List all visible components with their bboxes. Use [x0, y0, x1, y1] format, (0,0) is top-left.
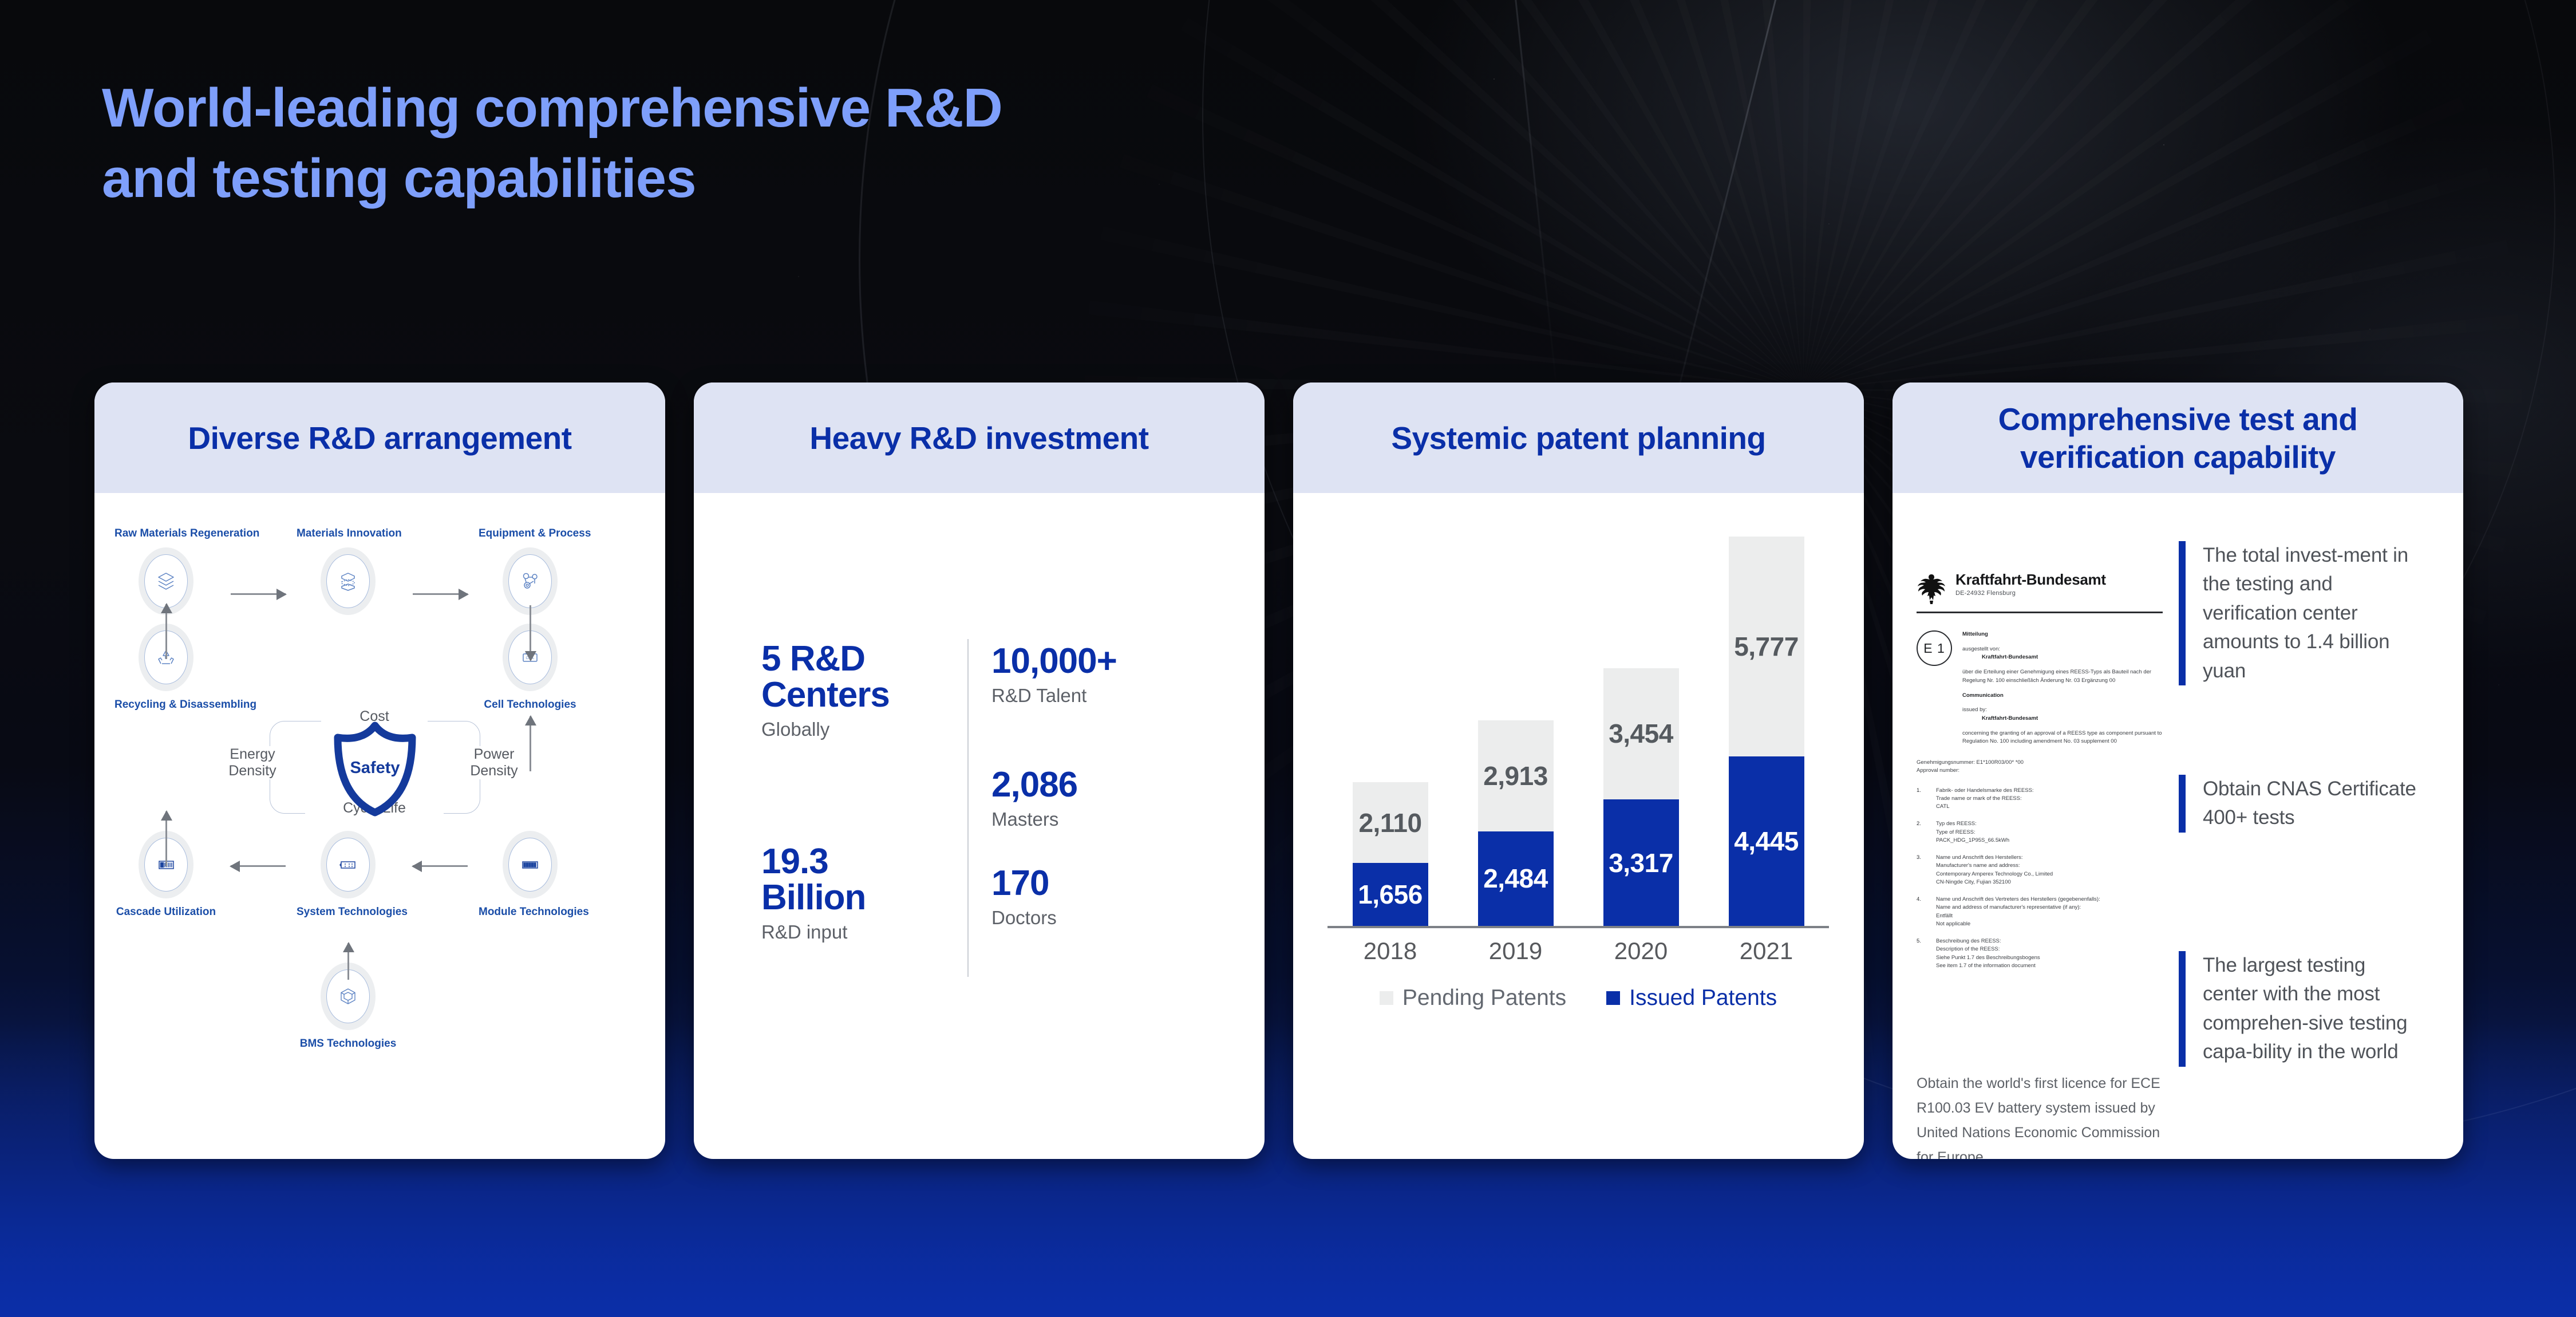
card-systemic-patent-planning: Systemic patent planning 2,1101,6562,913… [1293, 383, 1864, 1159]
stacked-material-icon [337, 570, 359, 593]
card4-title-line2: verification capability [2020, 439, 2336, 475]
certificate-item-de: Name und Anschrift des Vertreters des He… [1936, 896, 2100, 904]
safety-shield: Safety [330, 721, 420, 817]
battery-module-icon [519, 853, 542, 876]
certificate-item: 2.Typ des REESS:Type of REESS:PACK_HDG_1… [1917, 820, 2163, 845]
patent-bar-chart: 2,1101,6562,9132,4843,4543,3175,7774,445… [1321, 522, 1836, 1129]
certificate-item-value2: CN-Ningde City, Fujian 352100 [1936, 878, 2053, 886]
stat-label: Globally [761, 719, 950, 740]
bullets-column: The total invest-​ment in the testing an… [2179, 493, 2463, 1159]
node-equipment-process[interactable]: Equipment & Process [479, 527, 582, 615]
node-oval [503, 831, 558, 898]
legend-item-pending: Pending Patents [1380, 985, 1566, 1011]
certificate-item-value2: See item 1.7 of the information document [1936, 962, 2040, 970]
certificate-item-body: Name und Anschrift des Vertreters des He… [1936, 896, 2100, 928]
hub-label-power: Power [460, 746, 528, 763]
bar-segment-pending: 2,913 [1478, 720, 1554, 831]
stat-label: R&D input [761, 921, 950, 943]
bar-label-issued: 3,317 [1609, 847, 1673, 878]
legend-swatch-issued [1606, 991, 1620, 1005]
certificate-column: Kraftfahrt-Bundesamt DE-24932 Flensburg … [1893, 493, 2179, 1159]
card2-body: 5 R&D Centers Globally 19.3 Billion R&D … [694, 493, 1265, 1159]
certificate-item-body: Beschreibung des REESS:Description of th… [1936, 937, 2040, 970]
certificate-item-de: Name und Anschrift des Herstellers: [1936, 854, 2053, 862]
chart-x-axis-ticks: 2018201920202021 [1327, 937, 1829, 972]
certificate-item-body: Typ des REESS:Type of REESS:PACK_HDG_1P9… [1936, 820, 2009, 845]
certificate-notice-block: E 1 Mitteilung ausgestellt von: Kraftfah… [1917, 630, 2163, 746]
stat-value: 2,086 [991, 767, 1209, 803]
x-tick-2019: 2019 [1478, 937, 1554, 965]
bullet-text: The largest testing center with the most… [2203, 951, 2425, 1067]
node-label: Cell Technologies [479, 699, 582, 711]
hub-label-density-right: Density [460, 763, 528, 779]
bullet-accent-bar [2179, 541, 2186, 685]
certificate-item: 5.Beschreibung des REESS:Description of … [1917, 937, 2163, 970]
bullet-accent-bar [2179, 775, 2186, 833]
certificate-rule [1917, 612, 2163, 613]
certificate-item-de: Beschreibung des REESS: [1936, 937, 2040, 945]
certificate-item-number: 3. [1917, 854, 1929, 886]
certificate-item-value: Entfällt [1936, 912, 2100, 920]
certificate-item-en: Name and address of manufacturer's repre… [1936, 904, 2100, 912]
stats-grid: 5 R&D Centers Globally 19.3 Billion R&D … [694, 493, 1265, 1159]
page-title: World-leading comprehensive R&D and test… [102, 73, 1304, 214]
cert-en-issued-by: issued by: [1962, 706, 2163, 715]
bar-label-pending: 5,777 [1734, 631, 1799, 662]
bar-label-issued: 4,445 [1734, 826, 1799, 857]
arrow-recycling-to-raw [165, 604, 167, 659]
bar-segment-pending: 5,777 [1729, 537, 1804, 756]
card1-header: Diverse R&D arrangement [94, 383, 665, 493]
stat-rd-centers: 5 R&D Centers Globally [761, 641, 950, 740]
x-tick-2020: 2020 [1603, 937, 1679, 965]
certificate-authority: Kraftfahrt-Bundesamt [1955, 572, 2106, 587]
cert-de-issued-by: ausgestellt von: [1962, 645, 2163, 654]
bullet-text: Obtain CNAS Certificate 400+ tests [2203, 775, 2425, 833]
approval-en: Approval number: [1917, 767, 2163, 775]
certificate-item-number: 5. [1917, 937, 1929, 970]
bar-segment-issued: 3,317 [1603, 799, 1679, 926]
certificate-item-number: 4. [1917, 896, 1929, 928]
stat-value: 170 [991, 865, 1209, 901]
arrow-cascade-to-recycling [165, 811, 167, 866]
node-ring [144, 554, 188, 608]
stat-value: 10,000+ [991, 643, 1209, 679]
node-label: BMS Technologies [297, 1038, 400, 1050]
certificate-approval-number: Genehmigungsnummer: E1*100R03/00* *00 Ap… [1917, 759, 2163, 775]
cube-bms-icon [337, 985, 359, 1008]
certificate-authority-block: Kraftfahrt-Bundesamt DE-24932 Flensburg [1955, 572, 2106, 597]
arrow-materials-to-equipment [413, 593, 468, 595]
certificate-item: 3.Name und Anschrift des Herstellers:Man… [1917, 854, 2163, 886]
cert-en-body: concerning the granting of an approval o… [1962, 730, 2163, 746]
bar-label-pending: 2,913 [1483, 760, 1548, 791]
certificate-item-de: Fabrik- oder Handelsmarke des REESS: [1936, 787, 2034, 795]
x-tick-2018: 2018 [1353, 937, 1428, 965]
bar-segment-issued: 1,656 [1353, 863, 1428, 926]
stat-label: R&D Talent [991, 685, 1209, 707]
arrow-system-to-cascade [231, 865, 286, 867]
node-label: Materials Innovation [297, 527, 400, 540]
node-label: Cascade Utilization [114, 906, 218, 918]
legend-label-issued: Issued Patents [1629, 985, 1777, 1011]
bar-segment-pending: 2,110 [1353, 782, 1428, 862]
node-module-technologies[interactable]: Module Technologies [479, 831, 582, 918]
certificate-details: Genehmigungsnummer: E1*100R03/00* *00 Ap… [1917, 759, 2163, 970]
bar-segment-pending: 3,454 [1603, 668, 1679, 800]
certificate-item-en: Trade name or mark of the REESS: [1936, 795, 2034, 803]
certificate-item-en: Type of REESS: [1936, 829, 2009, 837]
stat-label: Doctors [991, 907, 1209, 929]
card4-title: Comprehensive test and verification capa… [1998, 400, 2358, 476]
chart-baseline [1327, 926, 1829, 928]
certificate-document[interactable]: Kraftfahrt-Bundesamt DE-24932 Flensburg … [1917, 542, 2163, 970]
rd-cycle-diagram: Raw Materials Regeneration Materials Inn… [94, 493, 665, 1159]
certificate-item-list: 1.Fabrik- oder Handelsmarke des REESS:Tr… [1917, 787, 2163, 971]
bar-segment-issued: 4,445 [1729, 756, 1804, 926]
certificate-item: 1.Fabrik- oder Handelsmarke des REESS:Tr… [1917, 787, 2163, 811]
stat-masters: 2,086 Masters [991, 767, 1209, 830]
node-ring [326, 554, 370, 608]
certificate-item-number: 1. [1917, 787, 1929, 811]
german-eagle-icon [1917, 572, 1946, 604]
battery-system-icon [337, 853, 359, 876]
card3-body: 2,1101,6562,9132,4843,4543,3175,7774,445… [1293, 493, 1864, 1159]
e1-mark-text: E 1 [1923, 641, 1945, 656]
cert-issuer-de: Kraftfahrt-Bundesamt [1962, 653, 2163, 662]
e1-approval-mark-icon: E 1 [1917, 630, 1952, 666]
legend-item-issued: Issued Patents [1606, 985, 1777, 1011]
node-label: Recycling & Disassembling [114, 699, 218, 711]
node-ring [508, 554, 552, 608]
stat-value: 5 R&D [761, 641, 950, 677]
certificate-item-en: Manufacturer's name and address: [1936, 862, 2053, 870]
certificate-item: 4.Name und Anschrift des Vertreters des … [1917, 896, 2163, 928]
card-row: Diverse R&D arrangement Raw Materials Re… [0, 383, 2576, 1160]
legend-label-pending: Pending Patents [1402, 985, 1566, 1011]
hub-label-density-left: Density [218, 763, 287, 779]
node-label: System Technologies [297, 906, 400, 918]
certificate-item-value2: Not applicable [1936, 920, 2100, 928]
arrow-module-to-system [413, 865, 468, 867]
bar-label-pending: 2,110 [1358, 807, 1421, 838]
slide-root: World-leading comprehensive R&D and test… [0, 0, 2576, 1317]
certificate-item-value: Contemporary Amperex Technology Co., Lim… [1936, 870, 2053, 878]
bar-group-2021: 5,7774,445 [1729, 537, 1804, 926]
node-raw-materials-regeneration[interactable]: Raw Materials Regeneration [114, 527, 218, 615]
node-ring [508, 838, 552, 892]
hub-label-energy: Energy [218, 746, 287, 763]
card4-header: Comprehensive test and verification capa… [1893, 383, 2463, 493]
approval-de: Genehmigungsnummer: E1*100R03/00* *00 [1917, 759, 2163, 767]
stat-rd-talent: 10,000+ R&D Talent [991, 643, 1209, 707]
card2-header: Heavy R&D investment [694, 383, 1265, 493]
card-diverse-rd-arrangement: Diverse R&D arrangement Raw Materials Re… [94, 383, 665, 1159]
hub-label-energy-density: Energy Density [218, 746, 287, 779]
stat-value-line2: Centers [761, 677, 950, 713]
bullet-total-investment: The total invest-​ment in the testing an… [2179, 541, 2425, 685]
bar-segment-issued: 2,484 [1478, 831, 1554, 926]
arrow-equipment-to-cell [530, 605, 531, 660]
bar-group-2018: 2,1101,656 [1353, 782, 1428, 926]
cert-en-notice: Communication [1962, 692, 2163, 700]
bullet-largest-testing-center: The largest testing center with the most… [2179, 951, 2425, 1067]
cert-de-body: über die Erteilung einer Genehmigung ein… [1962, 668, 2163, 685]
hub-label-power-density: Power Density [460, 746, 528, 779]
card-heavy-rd-investment: Heavy R&D investment 5 R&D Centers Globa… [694, 383, 1265, 1159]
bullet-accent-bar [2179, 951, 2186, 1067]
card4-columns: Kraftfahrt-Bundesamt DE-24932 Flensburg … [1893, 493, 2463, 1159]
card4-body: Kraftfahrt-Bundesamt DE-24932 Flensburg … [1893, 493, 2463, 1159]
stat-label: Masters [991, 809, 1209, 830]
bar-label-issued: 1,656 [1358, 879, 1423, 910]
certificate-item-number: 2. [1917, 820, 1929, 845]
stat-doctors: 170 Doctors [991, 865, 1209, 929]
node-oval [321, 831, 376, 898]
stat-value-line2: Billion [761, 880, 950, 916]
page-title-line1: World-leading comprehensive R&D [102, 77, 1002, 139]
card3-title: Systemic patent planning [1391, 419, 1765, 457]
certificate-item-body: Fabrik- oder Handelsmarke des REESS:Trad… [1936, 787, 2034, 811]
node-label: Raw Materials Regeneration [114, 527, 218, 540]
certificate-address: DE-24932 Flensburg [1955, 590, 2106, 597]
stats-divider [967, 639, 969, 977]
card4-title-line1: Comprehensive test and [1998, 401, 2358, 437]
certificate-header: Kraftfahrt-Bundesamt DE-24932 Flensburg [1917, 542, 2163, 604]
card1-body: Raw Materials Regeneration Materials Inn… [94, 493, 665, 1159]
certificate-item-de: Typ des REESS: [1936, 820, 2009, 828]
card2-title: Heavy R&D investment [809, 419, 1148, 457]
node-materials-innovation[interactable]: Materials Innovation [297, 527, 400, 615]
bar-label-issued: 2,484 [1483, 863, 1548, 894]
layers-icon [155, 570, 177, 593]
chart-plot-area: 2,1101,6562,9132,4843,4543,3175,7774,445 [1327, 522, 1829, 926]
node-label: Module Technologies [479, 906, 582, 918]
bar-group-2020: 3,4543,317 [1603, 668, 1679, 926]
card-comprehensive-test-verification: Comprehensive test and verification capa… [1893, 383, 2463, 1159]
node-system-technologies[interactable]: System Technologies [297, 831, 400, 918]
node-ring [326, 838, 370, 892]
bar-group-2019: 2,9132,484 [1478, 720, 1554, 926]
certificate-item-en: Description of the REESS: [1936, 945, 2040, 953]
card3-header: Systemic patent planning [1293, 383, 1864, 493]
bullet-text: The total invest-​ment in the testing an… [2203, 541, 2425, 685]
certificate-item-value: Siehe Punkt 1.7 des Beschreibungsbogens [1936, 954, 2040, 962]
x-tick-2021: 2021 [1729, 937, 1804, 965]
certificate-item-body: Name und Anschrift des Herstellers:Manuf… [1936, 854, 2053, 886]
certificate-notice-text: Mitteilung ausgestellt von: Kraftfahrt-B… [1962, 630, 2163, 746]
node-oval [321, 547, 376, 615]
certificate-item-value: PACK_HDG_1P95S_66.5kWh [1936, 837, 2009, 845]
arrow-cell-to-module [530, 716, 531, 771]
arrow-raw-to-materials [231, 593, 286, 595]
legend-swatch-pending [1380, 991, 1393, 1005]
chart-legend: Pending Patents Issued Patents [1332, 985, 1824, 1011]
page-title-line2: and testing capabilities [102, 144, 1304, 214]
certificate-item-value: CATL [1936, 803, 2034, 811]
shield-label: Safety [330, 759, 420, 778]
node-label: Equipment & Process [479, 527, 582, 540]
robot-arm-icon [519, 570, 542, 593]
bar-label-pending: 3,454 [1609, 718, 1673, 749]
bullet-cnas-certificate: Obtain CNAS Certificate 400+ tests [2179, 775, 2425, 833]
stat-rd-input: 19.3 Billion R&D input [761, 843, 950, 943]
cert-issuer-en: Kraftfahrt-Bundesamt [1962, 715, 2163, 723]
card1-title: Diverse R&D arrangement [188, 419, 571, 457]
stat-value: 19.3 [761, 843, 950, 880]
certificate-caption: Obtain the world's first licence for ECE… [1917, 1071, 2168, 1159]
arrow-bms-to-system [347, 943, 349, 980]
cert-de-notice: Mitteilung [1962, 630, 2163, 639]
